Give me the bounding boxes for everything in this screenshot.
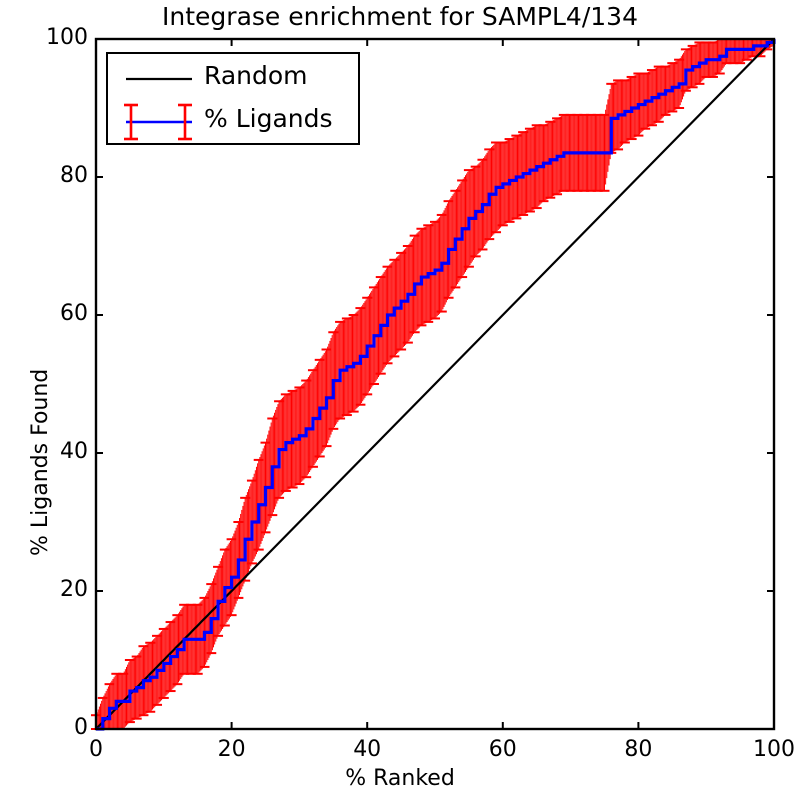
legend-swatch-ligands-errorbar [122, 99, 196, 145]
x-tick-label: 100 [744, 737, 800, 762]
legend-label-ligands: % Ligands [204, 104, 333, 133]
legend-label-random: Random [204, 61, 308, 90]
y-tick-label: 0 [28, 715, 88, 740]
legend-swatch-random-line [122, 56, 196, 102]
y-tick-label: 60 [28, 301, 88, 326]
y-tick-label: 80 [28, 163, 88, 188]
y-tick-label: 100 [28, 25, 88, 50]
x-tick-label: 80 [608, 737, 668, 762]
x-axis-label: % Ranked [0, 766, 800, 791]
x-tick-label: 40 [337, 737, 397, 762]
chart-figure: Integrase enrichment for SAMPL4/134 0204… [0, 0, 800, 803]
legend: Random % Ligands [106, 52, 360, 145]
x-tick-label: 20 [202, 737, 262, 762]
y-tick-label: 20 [28, 577, 88, 602]
y-axis-label: % Ligands Found [28, 369, 53, 556]
x-tick-label: 60 [473, 737, 533, 762]
legend-item-ligands: % Ligands [108, 99, 362, 145]
x-tick-label: 0 [66, 737, 126, 762]
legend-item-random: Random [108, 56, 362, 102]
